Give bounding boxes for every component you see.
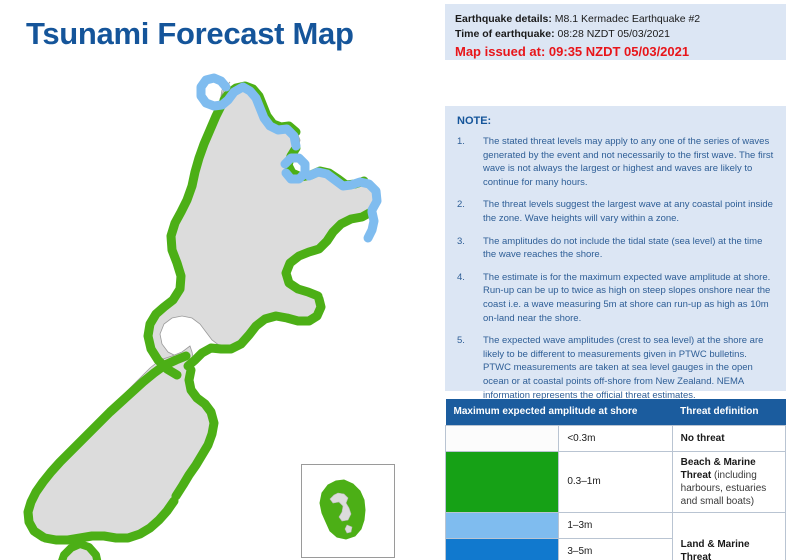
earthquake-details-label: Earthquake details: xyxy=(455,13,552,25)
note-item: 1. The stated threat levels may apply to… xyxy=(457,135,774,189)
legend-color-swatch xyxy=(446,425,559,451)
legend-amplitude: 3–5m xyxy=(559,538,672,560)
earthquake-time-value: 08:28 NZDT 05/03/2021 xyxy=(558,28,670,40)
legend-row: 0.3–1m Beach & Marine Threat (including … xyxy=(446,451,786,512)
legend-row: 1–3m Land & Marine Threat xyxy=(446,512,786,538)
legend-amplitude: 1–3m xyxy=(559,512,672,538)
note-item-number: 3. xyxy=(457,235,483,262)
legend-header-row: Maximum expected amplitude at shore Thre… xyxy=(446,399,786,425)
legend-definition: Beach & Marine Threat (including harbour… xyxy=(672,451,785,512)
legend-amplitude: 0.3–1m xyxy=(559,451,672,512)
north-island-land xyxy=(146,82,376,378)
earthquake-details-panel: Earthquake details: M8.1 Kermadec Earthq… xyxy=(445,4,786,60)
legend-color-swatch xyxy=(446,512,559,538)
legend-definition-bold: No threat xyxy=(681,433,725,444)
earthquake-details-line: Earthquake details: M8.1 Kermadec Earthq… xyxy=(455,12,776,27)
note-heading: NOTE: xyxy=(457,115,774,127)
legend-header-amplitude: Maximum expected amplitude at shore xyxy=(446,399,673,425)
note-item-text: The stated threat levels may apply to an… xyxy=(483,135,774,189)
legend-color-swatch xyxy=(446,538,559,560)
earthquake-time-label: Time of earthquake: xyxy=(455,28,555,40)
note-item-number: 2. xyxy=(457,198,483,225)
chatham-inset-svg xyxy=(302,465,394,557)
note-item-number: 1. xyxy=(457,135,483,189)
note-item-text: The threat levels suggest the largest wa… xyxy=(483,198,774,225)
note-item: 2. The threat levels suggest the largest… xyxy=(457,198,774,225)
tsunami-forecast-map-page: Tsunami Forecast Map xyxy=(0,0,800,560)
page-title: Tsunami Forecast Map xyxy=(26,16,354,52)
map-issued-at: Map issued at: 09:35 NZDT 05/03/2021 xyxy=(455,43,776,61)
legend-definition: No threat xyxy=(672,425,785,451)
threat-band-lightblue-east-cape xyxy=(368,212,374,238)
threat-legend-table: Maximum expected amplitude at shore Thre… xyxy=(445,399,786,560)
note-item-number: 5. xyxy=(457,334,483,402)
note-item-number: 4. xyxy=(457,271,483,325)
legend-header-definition: Threat definition xyxy=(672,399,785,425)
earthquake-time-line: Time of earthquake: 08:28 NZDT 05/03/202… xyxy=(455,27,776,42)
note-panel: NOTE: 1. The stated threat levels may ap… xyxy=(445,106,786,391)
note-item-text: The estimate is for the maximum expected… xyxy=(483,271,774,325)
legend-row: <0.3m No threat xyxy=(446,425,786,451)
legend-color-swatch xyxy=(446,451,559,512)
chatham-islands-inset xyxy=(301,464,395,558)
note-item: 3. The amplitudes do not include the tid… xyxy=(457,235,774,262)
note-item: 5. The expected wave amplitudes (crest t… xyxy=(457,334,774,402)
note-item-text: The amplitudes do not include the tidal … xyxy=(483,235,774,262)
note-item-text: The expected wave amplitudes (crest to s… xyxy=(483,334,774,402)
legend-definition-bold: Land & Marine Threat xyxy=(681,539,750,560)
earthquake-details-value: M8.1 Kermadec Earthquake #2 xyxy=(555,13,700,25)
legend-definition-land-marine: Land & Marine Threat xyxy=(672,512,785,560)
note-item: 4. The estimate is for the maximum expec… xyxy=(457,271,774,325)
legend-amplitude: <0.3m xyxy=(559,425,672,451)
